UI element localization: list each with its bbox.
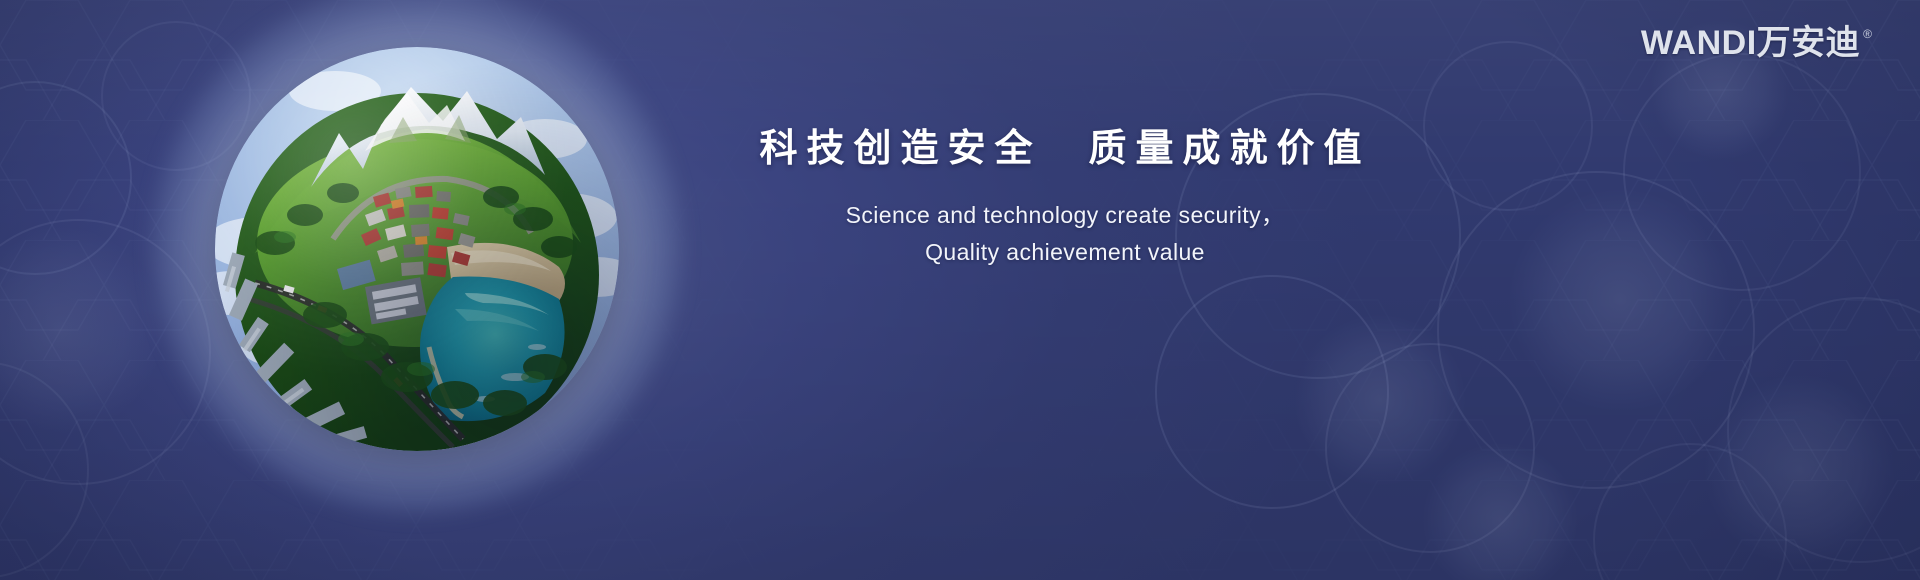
brand-logo[interactable]: WANDI万安迪 ® [1641, 26, 1872, 60]
banner-copy: 科技创造安全 质量成就价值 Science and technology cre… [705, 128, 1425, 271]
marketing-banner: WANDI万安迪 ® 科技创造安全 质量成就价值 Science and tec… [0, 0, 1920, 580]
registered-trademark-icon: ® [1863, 28, 1872, 40]
subtitle-line-2: Quality achievement value [705, 234, 1425, 271]
subtitle-english: Science and technology create security， … [705, 197, 1425, 272]
brand-logo-text: WANDI万安迪 [1641, 26, 1860, 60]
subtitle-line-1: Science and technology create security， [705, 197, 1425, 234]
headline-chinese: 科技创造安全 质量成就价值 [705, 128, 1425, 171]
globe-image [215, 47, 619, 451]
globe-sphere [215, 47, 619, 451]
